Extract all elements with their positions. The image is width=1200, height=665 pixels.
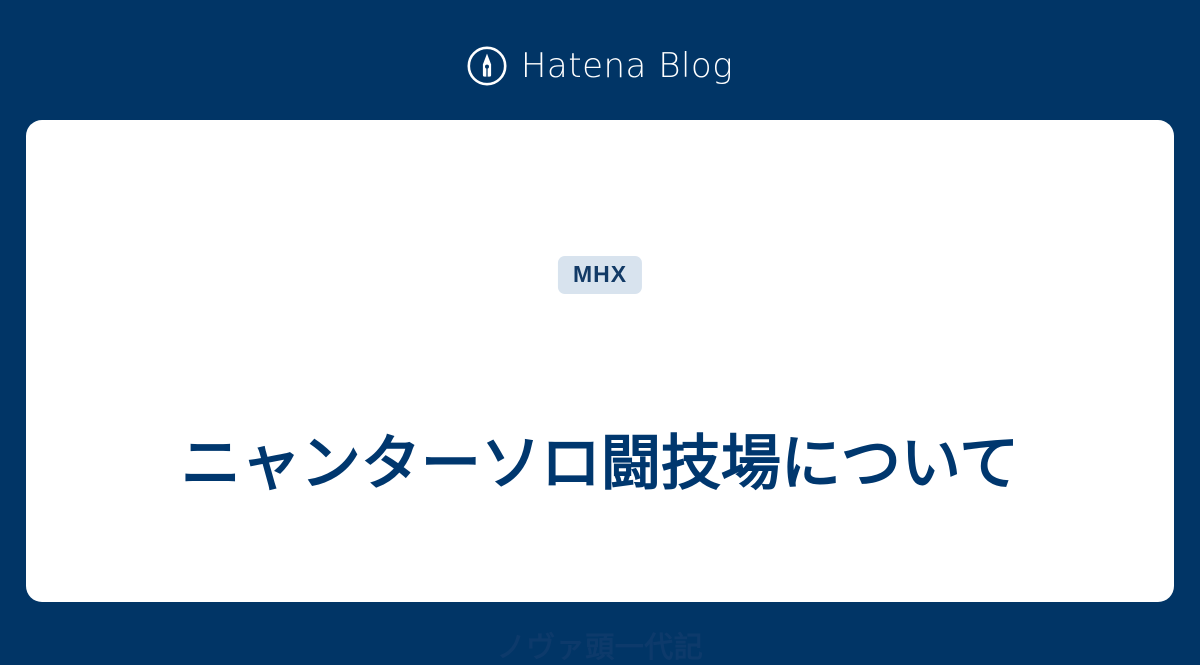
- brand-name-text: Hatena Blog: [521, 46, 733, 86]
- ogp-card: Hatena Blog MHX ニャンターソロ闘技場について ノヴァ頭一代記: [0, 0, 1200, 630]
- entry-card: MHX ニャンターソロ闘技場について ノヴァ頭一代記: [26, 120, 1174, 602]
- blog-name: ノヴァ頭一代記: [86, 629, 1114, 665]
- entry-title: ニャンターソロ闘技場について: [86, 428, 1114, 500]
- category-badge[interactable]: MHX: [558, 256, 642, 294]
- hatena-blog-brand: Hatena Blog: [0, 38, 1200, 94]
- hatena-pen-nib-icon: [467, 46, 507, 86]
